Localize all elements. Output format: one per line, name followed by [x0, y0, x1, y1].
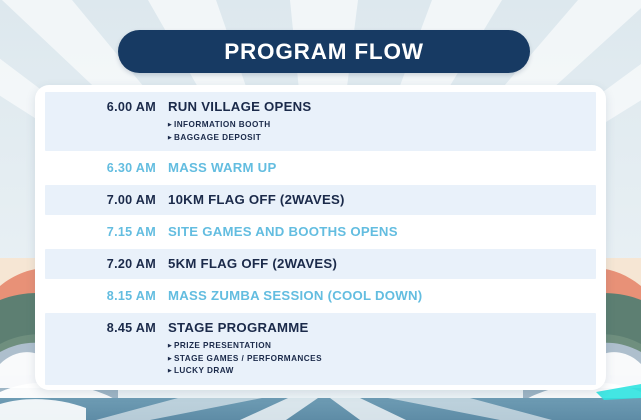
- schedule-row: 7.20 AM5KM FLAG OFF (2WAVES): [45, 249, 596, 279]
- schedule-row: 10.30 AMEND OF EVENT: [45, 387, 596, 390]
- schedule-title: MASS ZUMBA SESSION (COOL DOWN): [168, 288, 596, 304]
- schedule-sub-item: ▸LUCKY DRAW: [168, 365, 596, 378]
- schedule-title: STAGE PROGRAMME: [168, 320, 596, 336]
- schedule-body: MASS ZUMBA SESSION (COOL DOWN): [168, 288, 596, 304]
- schedule-sub-item: ▸STAGE GAMES / PERFORMANCES: [168, 353, 596, 366]
- schedule-body: MASS WARM UP: [168, 160, 596, 176]
- schedule-row: 7.15 AMSITE GAMES AND BOOTHS OPENS: [45, 217, 596, 247]
- program-flow-title-pill: PROGRAM FLOW: [118, 30, 530, 73]
- schedule-row-list: 6.00 AMRUN VILLAGE OPENS▸INFORMATION BOO…: [35, 85, 606, 390]
- schedule-sub-label: BAGGAGE DEPOSIT: [174, 133, 261, 142]
- schedule-time: 8.15 AM: [45, 288, 168, 304]
- triangle-bullet-icon: ▸: [168, 353, 172, 365]
- schedule-card: 6.00 AMRUN VILLAGE OPENS▸INFORMATION BOO…: [35, 85, 606, 390]
- schedule-sub-label: LUCKY DRAW: [174, 366, 234, 375]
- schedule-time: 6.00 AM: [45, 99, 168, 115]
- schedule-sub-item: ▸PRIZE PRESENTATION: [168, 340, 596, 353]
- triangle-bullet-icon: ▸: [168, 120, 172, 132]
- schedule-time: 7.15 AM: [45, 224, 168, 240]
- triangle-bullet-icon: ▸: [168, 132, 172, 144]
- schedule-body: 5KM FLAG OFF (2WAVES): [168, 256, 596, 272]
- program-flow-poster: PROGRAM FLOW 6.00 AMRUN VILLAGE OPENS▸IN…: [0, 0, 641, 420]
- schedule-sub-list: ▸INFORMATION BOOTH▸BAGGAGE DEPOSIT: [168, 119, 596, 144]
- schedule-title: SITE GAMES AND BOOTHS OPENS: [168, 224, 596, 240]
- schedule-title: MASS WARM UP: [168, 160, 596, 176]
- page-title: PROGRAM FLOW: [224, 39, 424, 65]
- schedule-body: SITE GAMES AND BOOTHS OPENS: [168, 224, 596, 240]
- schedule-row: 8.15 AMMASS ZUMBA SESSION (COOL DOWN): [45, 281, 596, 311]
- schedule-sub-item: ▸BAGGAGE DEPOSIT: [168, 132, 596, 145]
- triangle-bullet-icon: ▸: [168, 341, 172, 353]
- schedule-sub-item: ▸INFORMATION BOOTH: [168, 119, 596, 132]
- schedule-row: 6.00 AMRUN VILLAGE OPENS▸INFORMATION BOO…: [45, 92, 596, 151]
- schedule-row: 7.00 AM10KM FLAG OFF (2WAVES): [45, 185, 596, 215]
- schedule-time: 7.00 AM: [45, 192, 168, 208]
- schedule-time: 8.45 AM: [45, 320, 168, 336]
- schedule-sub-label: INFORMATION BOOTH: [174, 120, 271, 129]
- schedule-time: 6.30 AM: [45, 160, 168, 176]
- schedule-sub-label: STAGE GAMES / PERFORMANCES: [174, 354, 322, 363]
- schedule-sub-label: PRIZE PRESENTATION: [174, 341, 271, 350]
- schedule-body: RUN VILLAGE OPENS▸INFORMATION BOOTH▸BAGG…: [168, 99, 596, 144]
- schedule-title: 5KM FLAG OFF (2WAVES): [168, 256, 596, 272]
- triangle-bullet-icon: ▸: [168, 366, 172, 378]
- schedule-row: 6.30 AMMASS WARM UP: [45, 153, 596, 183]
- schedule-body: STAGE PROGRAMME▸PRIZE PRESENTATION▸STAGE…: [168, 320, 596, 378]
- schedule-row: 8.45 AMSTAGE PROGRAMME▸PRIZE PRESENTATIO…: [45, 313, 596, 385]
- schedule-sub-list: ▸PRIZE PRESENTATION▸STAGE GAMES / PERFOR…: [168, 340, 596, 378]
- schedule-time: 7.20 AM: [45, 256, 168, 272]
- schedule-title: 10KM FLAG OFF (2WAVES): [168, 192, 596, 208]
- schedule-title: RUN VILLAGE OPENS: [168, 99, 596, 115]
- schedule-body: 10KM FLAG OFF (2WAVES): [168, 192, 596, 208]
